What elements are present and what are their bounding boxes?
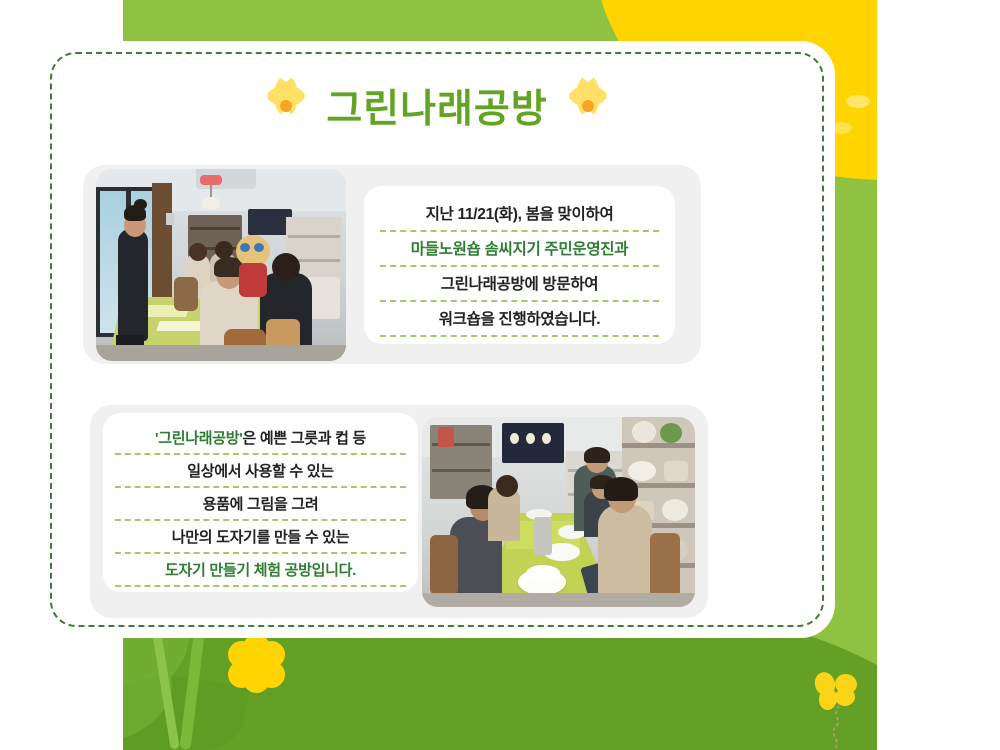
page-title: 그린나래공방 [326,78,547,134]
text-line: 나만의 도자기를 만들 수 있는 [115,521,406,554]
text-line: 지난 11/21(화), 봄을 맞이하여 [380,197,659,232]
text-line: 도자기 만들기 체험 공방입니다. [115,554,406,587]
text-card-1: 지난 11/21(화), 봄을 맞이하여 마들노원숍 솜씨지기 주민운영진과 그… [364,186,675,344]
content-card: 그린나래공방 [39,41,835,638]
text-rest: 은 예쁜 그릇과 컵 등 [243,430,366,447]
text-card-2: '그린나래공방'은 예쁜 그릇과 컵 등 일상에서 사용할 수 있는 용품에 그… [103,413,418,592]
flower-icon [228,634,286,692]
workshop-photo-2 [422,417,695,607]
butterfly-trail-icon [823,706,853,750]
workshop-photo-1 [96,169,346,361]
text-line: '그린나래공방'은 예쁜 그릇과 컵 등 [115,422,406,455]
text-line: 그린나래공방에 방문하여 [380,267,659,302]
flower-icon [264,84,308,128]
flower-icon [566,84,610,128]
text-line: 워크숍을 진행하였습니다. [380,302,659,337]
dot-decoration [846,95,870,108]
poster-canvas: 그린나래공방 [0,0,1000,750]
section-workshop-intro: 지난 11/21(화), 봄을 맞이하여 마들노원숍 솜씨지기 주민운영진과 그… [83,165,701,364]
text-line: 용품에 그림을 그려 [115,488,406,521]
text-line: 마들노원숍 솜씨지기 주민운영진과 [380,232,659,267]
poster-title-row: 그린나래공방 [39,78,835,134]
text-highlight: '그린나래공방' [155,430,243,447]
section-workshop-description: '그린나래공방'은 예쁜 그릇과 컵 등 일상에서 사용할 수 있는 용품에 그… [90,405,708,618]
text-line: 일상에서 사용할 수 있는 [115,455,406,488]
